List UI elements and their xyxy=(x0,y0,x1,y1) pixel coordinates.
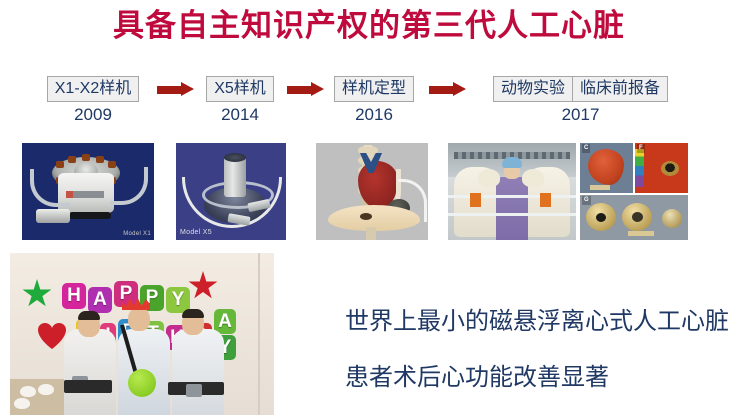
pane-label-f: F xyxy=(637,144,645,153)
stage-1-label: X1-X2样机 xyxy=(48,77,138,101)
photo-animal-study xyxy=(448,143,576,240)
bowl xyxy=(20,386,36,397)
stage-1-box[interactable]: X1-X2样机 xyxy=(47,76,139,102)
timeline-stage-4: 动物实验 临床前报备 2017 xyxy=(473,76,688,126)
photo-heart-model xyxy=(316,143,428,240)
patient-left xyxy=(64,329,116,415)
stage-1-year: 2009 xyxy=(30,104,156,126)
explant-pane-f: F xyxy=(635,143,688,193)
stage-3-label: 样机定型 xyxy=(335,77,413,101)
inflow-cannula xyxy=(224,157,246,197)
photo-model-x5: Model X5 xyxy=(176,143,286,240)
balloon-letter: A xyxy=(88,287,112,313)
coil xyxy=(82,154,90,161)
arrow-right-icon-2 xyxy=(287,82,325,97)
stage-4-label-preclinical: 临床前报备 xyxy=(572,77,667,101)
stage-4-year: 2017 xyxy=(473,104,688,126)
pane-label-c: C xyxy=(582,144,590,153)
pen-tag-right xyxy=(540,193,551,207)
pen-tag-left xyxy=(470,193,481,207)
coil xyxy=(96,156,104,163)
explant-pane-c: C xyxy=(580,143,633,193)
vertebra xyxy=(358,147,378,154)
arrow-head xyxy=(311,82,324,96)
patient-left-hair xyxy=(78,311,100,320)
patient-right-controller xyxy=(186,384,202,397)
photo-model-x1: Model X1 xyxy=(22,143,154,240)
explant-pane-g: G xyxy=(580,195,688,240)
cannula-top xyxy=(224,153,246,162)
wall-edge xyxy=(258,253,260,415)
patient-right xyxy=(172,329,224,415)
coil xyxy=(56,161,64,168)
pen-rail-upper xyxy=(448,195,576,198)
explanted-heart xyxy=(588,149,624,185)
bowl xyxy=(38,384,54,395)
side-table xyxy=(10,379,68,415)
cable-left xyxy=(30,169,70,207)
device-logo xyxy=(66,191,104,198)
green-balloon xyxy=(128,369,156,397)
arrow-shaft xyxy=(287,86,312,94)
inflow-orifice xyxy=(661,161,679,176)
diaphragm-aperture xyxy=(360,213,372,220)
patient-right-hair xyxy=(182,309,204,318)
arrow-shaft xyxy=(429,86,454,94)
stage-2-box[interactable]: X5样机 xyxy=(206,76,274,102)
stage-4-label-animal: 动物实验 xyxy=(494,77,572,101)
photo-watermark-model-x5: Model X5 xyxy=(180,229,212,236)
photo-patients: H A P P Y B I R T H D A Y xyxy=(10,253,274,415)
balloon-letter: P xyxy=(114,281,138,307)
timeline-stage-3: 样机定型 2016 xyxy=(325,76,423,126)
arrow-right-icon-3 xyxy=(429,82,467,97)
arrow-shaft xyxy=(157,86,182,94)
patient-center-head xyxy=(128,307,150,331)
timeline: X1-X2样机 2009 X5样机 2014 样机定型 2016 动物实验 临床… xyxy=(0,76,738,134)
stage-2-year: 2014 xyxy=(195,104,285,126)
scale-label xyxy=(628,231,654,236)
timeline-stage-2: X5样机 2014 xyxy=(195,76,285,126)
stage-2-label: X5样机 xyxy=(207,77,273,101)
patient-left-belt xyxy=(64,380,112,393)
arrow-head xyxy=(453,82,466,96)
stage-4-box[interactable]: 动物实验 临床前报备 xyxy=(493,76,668,102)
timeline-stage-1: X1-X2样机 2009 xyxy=(30,76,156,126)
cable-right xyxy=(110,167,148,205)
page-title: 具备自主知识产权的第三代人工心脏 xyxy=(0,6,738,46)
surgical-cap-icon xyxy=(502,157,522,168)
pump-part-2 xyxy=(622,203,652,231)
bowl xyxy=(14,398,30,409)
arrow-head xyxy=(181,82,194,96)
scale-strip xyxy=(590,185,610,190)
color-scale-bar xyxy=(635,149,644,187)
pane-label-g: G xyxy=(582,196,591,205)
pump-part-3 xyxy=(662,209,682,228)
photo-watermark-model-x1: Model X1 xyxy=(123,231,151,237)
pump-part-1 xyxy=(586,203,616,231)
stage-3-year: 2016 xyxy=(325,104,423,126)
balloon-letter: H xyxy=(62,283,86,309)
model-stand xyxy=(366,227,376,240)
connector xyxy=(36,209,70,223)
photo-explant-composite: C F G xyxy=(580,143,688,240)
pen-rail-lower xyxy=(448,213,576,216)
arrow-right-icon-1 xyxy=(157,82,195,97)
caption-line-2: 患者术后心功能改善显著 xyxy=(345,362,609,394)
sheep-head-right xyxy=(522,169,544,187)
coil xyxy=(68,156,76,163)
sheep-head-left xyxy=(478,169,500,187)
power-cord xyxy=(69,212,111,219)
caption-line-1: 世界上最小的磁悬浮离心式人工心脏 xyxy=(345,306,729,338)
researcher-body xyxy=(496,177,528,240)
stage-3-box[interactable]: 样机定型 xyxy=(334,76,414,102)
